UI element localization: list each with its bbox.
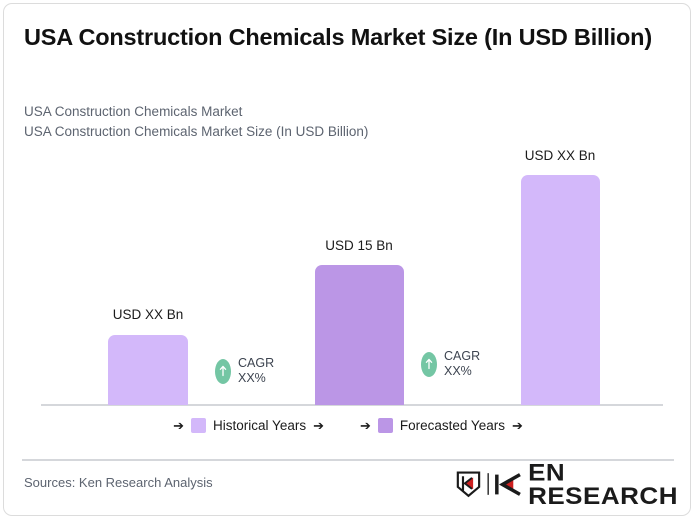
cagr-annotation-1: CAGR XX% (215, 356, 274, 386)
legend-swatch-forecasted (378, 418, 393, 433)
arrow-right-icon-hist-left: ➔ (173, 419, 184, 432)
cagr-label-2: CAGR (444, 349, 480, 364)
sources-text: Sources: Ken Research Analysis (24, 475, 213, 490)
ken-research-emblem-icon (456, 468, 481, 500)
bar-2-forecasted[interactable] (315, 265, 404, 405)
cagr-text-block-1: CAGR XX% (238, 356, 274, 386)
logo-k-accent-icon (495, 471, 522, 498)
cagr-label-1: CAGR (238, 356, 274, 371)
cagr-value-1: XX% (238, 371, 274, 386)
chart-card: USA Construction Chemicals Market Size (… (3, 3, 691, 516)
arrow-right-icon-hist-right: ➔ (313, 419, 324, 432)
cagr-annotation-2: CAGR XX% (421, 349, 480, 379)
legend-item-historical[interactable]: ➔ Historical Years ➔ (173, 418, 324, 433)
ken-research-logo: EN RESEARCH (456, 467, 690, 501)
arrow-right-icon-fore-right: ➔ (512, 419, 523, 432)
bar-3-forecasted[interactable] (521, 175, 600, 405)
bar-chart-plot-area: USD XX Bn USD 15 Bn USD XX Bn CAGR XX% (4, 4, 691, 516)
bar-1-historical[interactable] (108, 335, 188, 405)
arrow-right-icon-fore-left: ➔ (360, 419, 371, 432)
logo-wordmark: EN RESEARCH (528, 460, 690, 508)
cagr-up-arrow-icon-1 (215, 359, 231, 384)
cagr-text-block-2: CAGR XX% (444, 349, 480, 379)
logo-divider-icon (487, 471, 490, 497)
chart-legend: ➔ Historical Years ➔ ➔ Forecasted Years … (4, 418, 691, 433)
cagr-value-2: XX% (444, 364, 480, 379)
legend-label-historical: Historical Years (213, 418, 306, 433)
legend-item-forecasted[interactable]: ➔ Forecasted Years ➔ (360, 418, 523, 433)
legend-label-forecasted: Forecasted Years (400, 418, 505, 433)
bar-label-3: USD XX Bn (500, 148, 620, 163)
cagr-up-arrow-icon-2 (421, 352, 437, 377)
bar-label-2: USD 15 Bn (299, 238, 419, 253)
legend-swatch-historical (191, 418, 206, 433)
bar-label-1: USD XX Bn (88, 307, 208, 322)
